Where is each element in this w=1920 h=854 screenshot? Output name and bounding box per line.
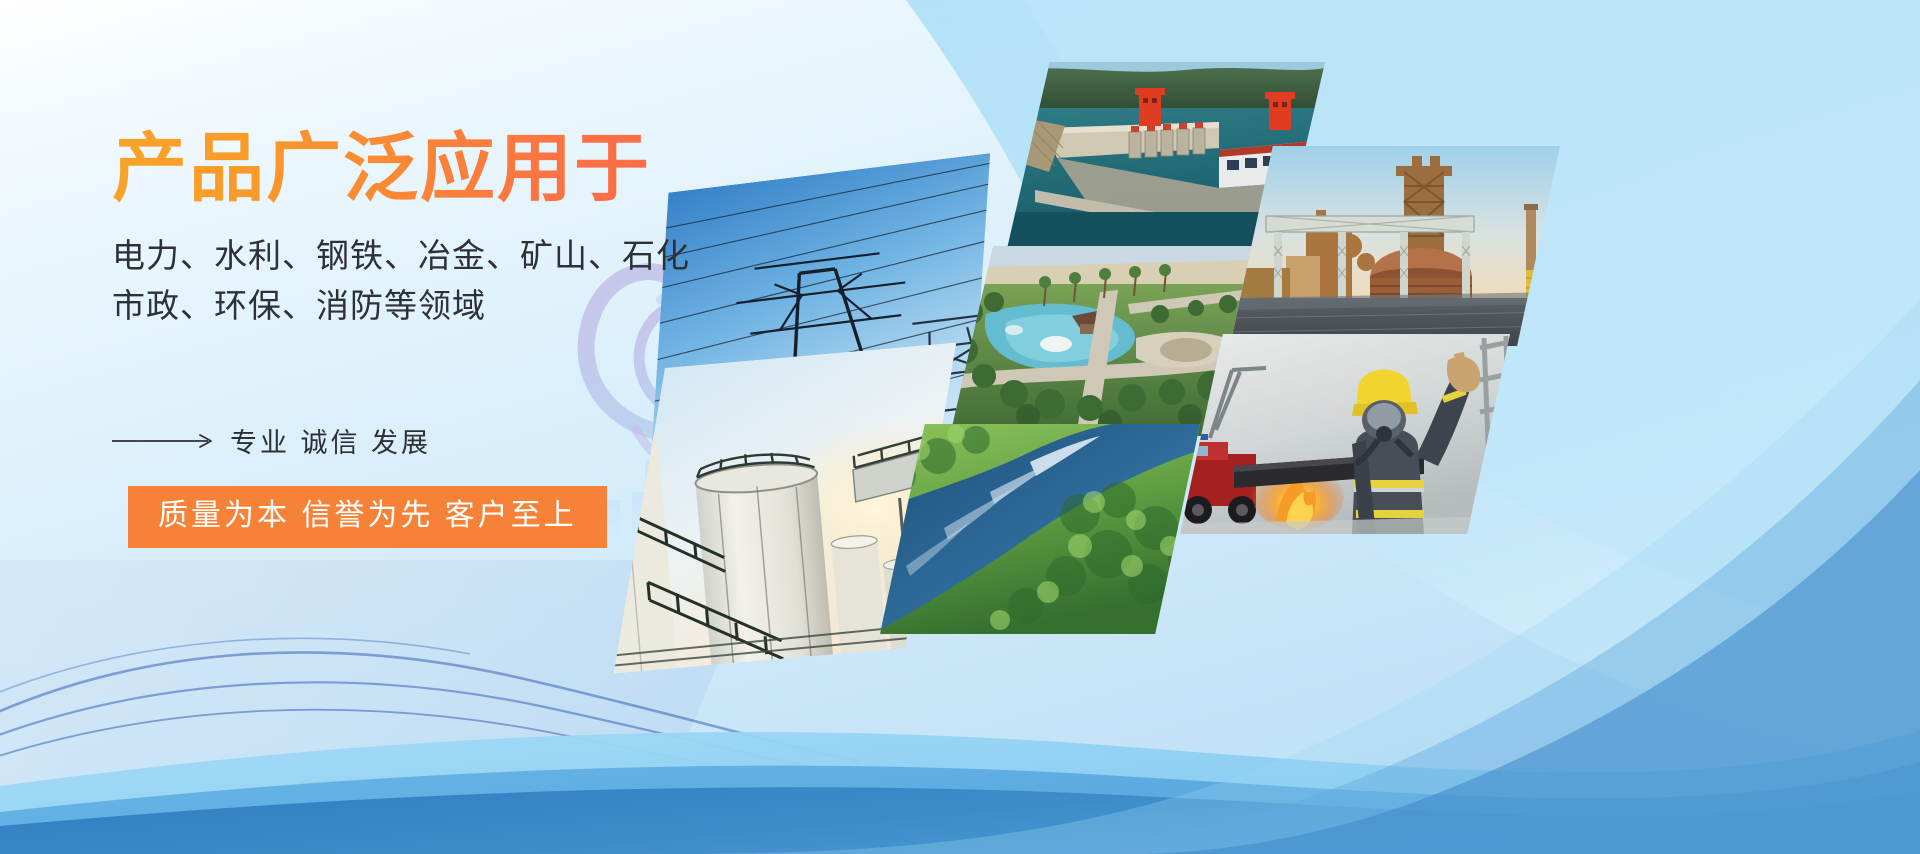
bottom-waves [0,730,1920,854]
banner-text-column: 产品广泛应用于 电力、水利、钢铁、冶金、矿山、石化 市政、环保、消防等领域 专业… [112,128,752,548]
photo-tile-forest-river[interactable] [880,424,1200,634]
firefighter-image [1180,334,1510,534]
slogan-row: 专业 诚信 发展 [112,421,752,460]
water-ripple-lines [0,638,910,802]
photo-tile-firefighter[interactable] [1180,334,1510,534]
promo-banner: 产品广泛应用于 电力、水利、钢铁、冶金、矿山、石化 市政、环保、消防等领域 专业… [0,0,1920,854]
long-arrow-right-icon [112,433,216,449]
status-badge: 质量为本 信誉为先 客户至上 [128,486,607,548]
subtitle-line-1: 电力、水利、钢铁、冶金、矿山、石化 [112,231,752,281]
page-title: 产品广泛应用于 [112,128,752,209]
steel-mill-image [1230,146,1560,346]
subtitle-block: 电力、水利、钢铁、冶金、矿山、石化 市政、环保、消防等领域 [112,231,752,331]
photo-tile-steel-mill[interactable] [1230,146,1560,346]
slogan-text: 专业 诚信 发展 [230,421,431,460]
forest-river-image [880,424,1200,634]
subtitle-line-2: 市政、环保、消防等领域 [112,281,752,331]
